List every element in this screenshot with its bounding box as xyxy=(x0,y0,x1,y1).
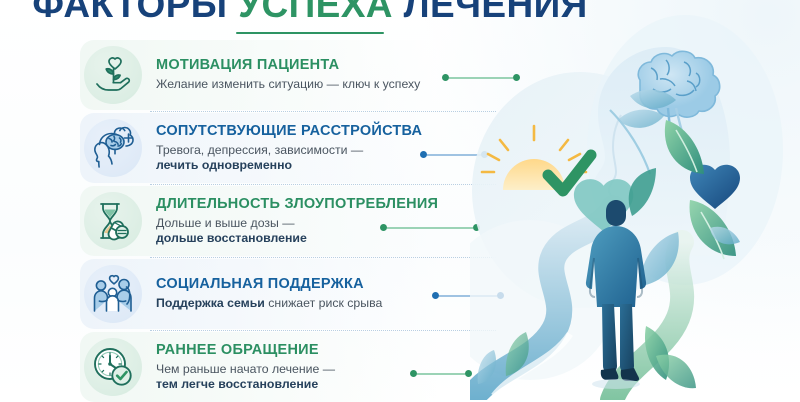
factor-heading: ДЛИТЕЛЬНОСТЬ ЗЛОУПОТРЕБЛЕНИЯ xyxy=(156,196,438,213)
connector-line-5 xyxy=(410,370,472,377)
connector-dot-left xyxy=(432,292,439,299)
title-underline xyxy=(236,32,384,34)
clock-check-icon xyxy=(84,338,142,396)
factor-heading: МОТИВАЦИЯ ПАЦИЕНТА xyxy=(156,57,420,74)
factor-heading: СОЦИАЛЬНАЯ ПОДДЕРЖКА xyxy=(156,276,382,293)
factor-desc-bold: Поддержка семьи xyxy=(156,296,265,310)
hand-plant-heart-icon xyxy=(84,46,142,104)
head-brain-plus-icon xyxy=(84,119,142,177)
infographic-poster: ФАКТОРЫ УСПЕХА ЛЕЧЕНИЯ МОТИВАЦИЯ ПАЦИЕНТ… xyxy=(0,0,800,400)
connector-bar xyxy=(417,373,465,375)
factor-desc-plain: Тревога, депрессия, зависимости — xyxy=(156,143,363,157)
connector-line-3 xyxy=(380,224,480,231)
factor-list: МОТИВАЦИЯ ПАЦИЕНТА Желание изменить ситу… xyxy=(80,40,500,402)
connector-dot-left xyxy=(442,74,449,81)
factor-row-motivation[interactable]: МОТИВАЦИЯ ПАЦИЕНТА Желание изменить ситу… xyxy=(80,40,500,110)
row-separator xyxy=(150,257,496,258)
factor-desc-plain: Желание изменить ситуацию — ключ к успех… xyxy=(156,77,420,91)
factor-description: Тревога, депрессия, зависимости — лечить… xyxy=(156,143,422,174)
factor-heading: СОПУТСТВУЮЩИЕ РАССТРОЙСТВА xyxy=(156,123,422,140)
factor-desc-plain: Дольше и выше дозы — xyxy=(156,216,295,230)
row-separator xyxy=(150,111,496,112)
title-part-2: УСПЕХА xyxy=(238,0,393,25)
recovery-path-illustration xyxy=(470,0,800,400)
factor-row-duration[interactable]: ДЛИТЕЛЬНОСТЬ ЗЛОУПОТРЕБЛЕНИЯ Дольше и вы… xyxy=(80,186,500,256)
row-separator xyxy=(150,184,496,185)
factor-description: Чем раньше начато лечение — тем легче во… xyxy=(156,362,335,393)
row-separator xyxy=(150,330,496,331)
connector-dot-left xyxy=(410,370,417,377)
factor-description: Дольше и выше дозы — дольше восстановлен… xyxy=(156,216,438,247)
factor-heading: РАННЕЕ ОБРАЩЕНИЕ xyxy=(156,342,335,359)
hourglass-pill-icon xyxy=(84,192,142,250)
factor-row-comorbid[interactable]: СОПУТСТВУЮЩИЕ РАССТРОЙСТВА Тревога, депр… xyxy=(80,113,500,183)
factor-desc-bold: тем легче восстановление xyxy=(156,377,318,391)
factor-desc-plain: снижает риск срыва xyxy=(265,296,382,310)
factor-desc-bold: дольше восстановление xyxy=(156,231,307,245)
factor-description: Поддержка семьи снижает риск срыва xyxy=(156,296,382,312)
connector-dot-left xyxy=(420,151,427,158)
title-part-1: ФАКТОРЫ xyxy=(32,0,227,25)
factor-desc-bold: лечить одновременно xyxy=(156,158,292,172)
factor-description: Желание изменить ситуацию — ключ к успех… xyxy=(156,77,420,93)
factor-row-support[interactable]: СОЦИАЛЬНАЯ ПОДДЕРЖКА Поддержка семьи сни… xyxy=(80,259,500,329)
family-heart-icon xyxy=(84,265,142,323)
factor-desc-plain: Чем раньше начато лечение — xyxy=(156,362,335,376)
factor-row-early[interactable]: РАННЕЕ ОБРАЩЕНИЕ Чем раньше начато лечен… xyxy=(80,332,500,402)
connector-dot-left xyxy=(380,224,387,231)
connector-bar xyxy=(387,227,473,229)
